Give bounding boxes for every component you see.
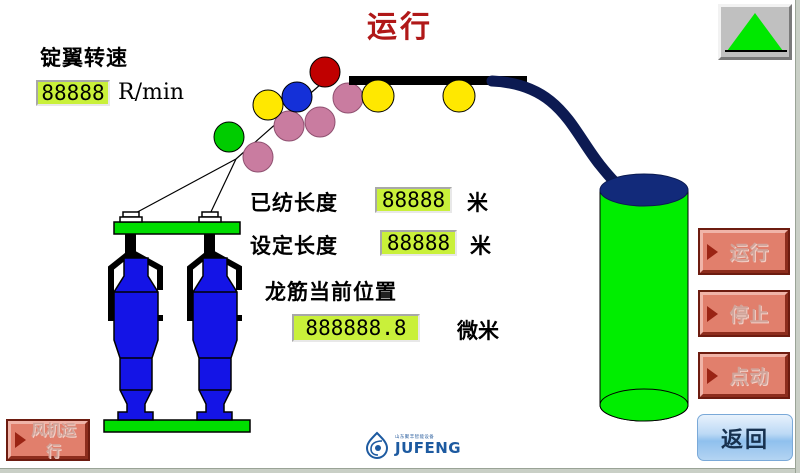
- jufeng-droplet-icon: [362, 430, 392, 460]
- play-triangle-icon: [15, 432, 26, 448]
- stop-button-label: 停止: [720, 300, 785, 327]
- label-set-length: 设定长度: [250, 230, 338, 260]
- play-triangle-icon: [707, 306, 718, 322]
- unit-set-length: 米: [470, 230, 491, 260]
- page-title: 运行: [0, 2, 800, 46]
- run-button[interactable]: 运行: [700, 230, 788, 273]
- stop-button[interactable]: 停止: [700, 292, 788, 335]
- return-button[interactable]: 返回: [697, 414, 793, 461]
- unit-spun-length: 米: [467, 187, 488, 217]
- value-flyer-speed[interactable]: 88888: [36, 80, 110, 106]
- play-triangle-icon: [707, 368, 718, 384]
- company-logo: 山东聚丰智能设备 JUFENG: [362, 427, 472, 463]
- unit-rail-position: 微米: [457, 315, 499, 345]
- value-spun-length[interactable]: 88888: [375, 187, 452, 213]
- window-right-edge: [795, 0, 800, 473]
- label-flyer-speed: 锭翼转速: [40, 42, 128, 72]
- unit-flyer-speed: R/min: [118, 80, 184, 105]
- run-button-label: 运行: [720, 238, 785, 265]
- jog-button[interactable]: 点动: [700, 354, 788, 397]
- fan-run-button[interactable]: 风机运行: [8, 421, 88, 459]
- play-triangle-icon: [707, 244, 718, 260]
- value-set-length[interactable]: 88888: [380, 230, 457, 256]
- hmi-screen: 运行: [0, 0, 800, 473]
- jog-button-label: 点动: [720, 362, 785, 389]
- logo-name: JUFENG: [395, 441, 461, 456]
- label-rail-position: 龙筋当前位置: [265, 276, 397, 306]
- run-indicator-panel[interactable]: [718, 4, 792, 60]
- label-spun-length: 已纺长度: [250, 187, 338, 217]
- value-rail-position[interactable]: 888888.8: [292, 314, 420, 342]
- triangle-base-line: [725, 50, 787, 52]
- fan-run-button-label: 风机运行: [28, 419, 85, 461]
- up-triangle-icon: [727, 13, 783, 51]
- window-bottom-edge: [0, 468, 800, 473]
- return-button-label: 返回: [721, 422, 769, 454]
